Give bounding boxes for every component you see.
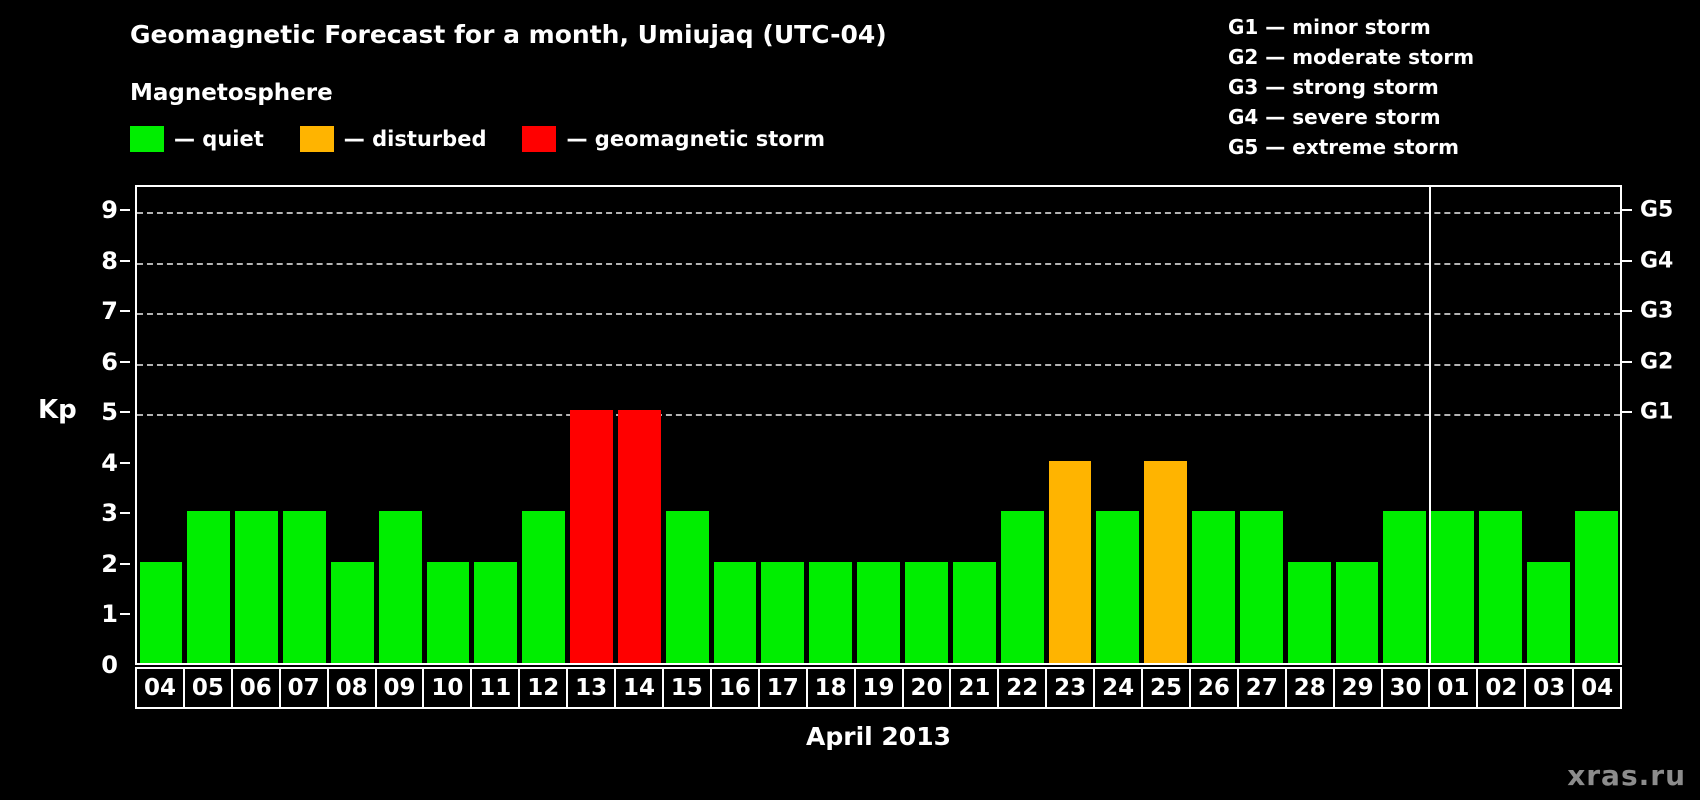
g-axis-tick-label: G1	[1640, 400, 1673, 425]
date-label-cell: 17	[758, 667, 808, 709]
g-scale-legend-line: G3 — strong storm	[1228, 72, 1474, 102]
g-scale-axis: G1G2G3G4G5	[1622, 185, 1692, 665]
date-label-cell: 01	[1428, 667, 1478, 709]
legend-entry-label: — geomagnetic storm	[566, 127, 825, 151]
y-tick-label: 9	[101, 196, 118, 224]
bar	[235, 511, 278, 663]
bar-slot	[233, 187, 281, 663]
g-axis-tick-label: G4	[1640, 248, 1673, 273]
magnetosphere-heading: Magnetosphere	[130, 80, 333, 106]
legend-entry-label: — quiet	[174, 127, 264, 151]
bar-slot	[615, 187, 663, 663]
magnetosphere-legend: — quiet— disturbed— geomagnetic storm	[130, 124, 861, 154]
x-axis-date-labels: 0405060708091011121314151617181920212223…	[135, 667, 1622, 709]
g-axis-tick-mark	[1622, 361, 1632, 363]
bar	[1049, 461, 1092, 663]
y-tick-mark	[120, 462, 130, 464]
bar-slot	[137, 187, 185, 663]
bar	[1144, 461, 1187, 663]
g-axis-tick-label: G3	[1640, 299, 1673, 324]
y-tick-label: 6	[101, 348, 118, 376]
date-label-cell: 23	[1045, 667, 1095, 709]
y-tick-label: 1	[101, 600, 118, 628]
bar-slot	[376, 187, 424, 663]
bar	[714, 562, 757, 663]
date-label-cell: 27	[1237, 667, 1287, 709]
date-label-cell: 22	[997, 667, 1047, 709]
bar	[1192, 511, 1235, 663]
bar-slot	[520, 187, 568, 663]
bar	[618, 410, 661, 663]
g-scale-legend-line: G4 — severe storm	[1228, 102, 1474, 132]
y-tick-mark	[120, 563, 130, 565]
date-label-cell: 24	[1093, 667, 1143, 709]
chart-plot-inner	[137, 187, 1620, 663]
bar	[1527, 562, 1570, 663]
date-label-cell: 14	[614, 667, 664, 709]
date-label-cell: 25	[1141, 667, 1191, 709]
red-square-swatch	[522, 126, 556, 152]
bar-slot	[328, 187, 376, 663]
y-tick-mark	[120, 310, 130, 312]
bar	[857, 562, 900, 663]
bar-slot	[1524, 187, 1572, 663]
y-tick-mark	[120, 411, 130, 413]
bar	[761, 562, 804, 663]
date-label-cell: 18	[806, 667, 856, 709]
bar	[474, 562, 517, 663]
y-tick-label: 0	[101, 651, 118, 679]
bar	[1431, 511, 1474, 663]
bar	[1288, 562, 1331, 663]
bar	[809, 562, 852, 663]
bar	[427, 562, 470, 663]
date-label-cell: 26	[1189, 667, 1239, 709]
bar	[140, 562, 183, 663]
bar	[953, 562, 996, 663]
bar	[1001, 511, 1044, 663]
bar	[331, 562, 374, 663]
bar	[666, 511, 709, 663]
bar	[1240, 511, 1283, 663]
date-label-cell: 10	[422, 667, 472, 709]
bar-slot	[903, 187, 951, 663]
date-label-cell: 11	[470, 667, 520, 709]
bar-slot	[950, 187, 998, 663]
bar-slot	[1142, 187, 1190, 663]
y-tick-label: 5	[101, 398, 118, 426]
g-scale-legend-line: G5 — extreme storm	[1228, 132, 1474, 162]
date-label-cell: 19	[854, 667, 904, 709]
bar-slot	[185, 187, 233, 663]
legend-entry: — disturbed	[300, 124, 487, 154]
bar	[1575, 511, 1618, 663]
date-label-cell: 30	[1381, 667, 1431, 709]
date-label-cell: 05	[183, 667, 233, 709]
date-label-cell: 02	[1476, 667, 1526, 709]
watermark: xras.ru	[1567, 759, 1686, 792]
bar	[283, 511, 326, 663]
y-tick-label: 8	[101, 247, 118, 275]
y-tick-mark	[120, 361, 130, 363]
y-tick-label: 7	[101, 297, 118, 325]
page-title: Geomagnetic Forecast for a month, Umiuja…	[130, 20, 887, 49]
y-tick-label: 3	[101, 499, 118, 527]
bar	[1479, 511, 1522, 663]
bar-slot	[1094, 187, 1142, 663]
y-tick-label: 2	[101, 550, 118, 578]
bar	[187, 511, 230, 663]
date-label-cell: 04	[1572, 667, 1622, 709]
bar-slot	[759, 187, 807, 663]
bar-slot	[663, 187, 711, 663]
g-scale-legend-line: G1 — minor storm	[1228, 12, 1474, 42]
g-axis-tick-label: G2	[1640, 349, 1673, 374]
bar-slot	[1190, 187, 1238, 663]
bar	[1336, 562, 1379, 663]
bar-slot	[1237, 187, 1285, 663]
chart-plot-area	[135, 185, 1622, 665]
orange-square-swatch	[300, 126, 334, 152]
bar-slot	[711, 187, 759, 663]
date-label-cell: 15	[662, 667, 712, 709]
bar-slot	[998, 187, 1046, 663]
bar-slot	[1477, 187, 1525, 663]
x-axis-title: April 2013	[135, 722, 1622, 751]
bar	[1383, 511, 1426, 663]
y-tick-mark	[120, 260, 130, 262]
date-label-cell: 09	[375, 667, 425, 709]
bar	[570, 410, 613, 663]
g-scale-legend: G1 — minor stormG2 — moderate stormG3 — …	[1228, 12, 1474, 162]
date-label-cell: 29	[1333, 667, 1383, 709]
bar-slot	[1429, 187, 1477, 663]
g-axis-tick-label: G5	[1640, 198, 1673, 223]
date-label-cell: 13	[566, 667, 616, 709]
g-axis-tick-mark	[1622, 310, 1632, 312]
y-axis: 0123456789	[70, 185, 130, 665]
date-label-cell: 07	[279, 667, 329, 709]
date-label-cell: 20	[902, 667, 952, 709]
g-axis-tick-mark	[1622, 411, 1632, 413]
date-label-cell: 12	[518, 667, 568, 709]
bar-slot	[1381, 187, 1429, 663]
y-axis-title: Kp	[38, 395, 77, 425]
bar	[379, 511, 422, 663]
legend-entry: — geomagnetic storm	[522, 124, 825, 154]
bar	[1096, 511, 1139, 663]
y-tick-mark	[120, 613, 130, 615]
legend-entry-label: — disturbed	[344, 127, 487, 151]
legend-entry: — quiet	[130, 124, 264, 154]
bar-slot	[424, 187, 472, 663]
date-label-cell: 03	[1524, 667, 1574, 709]
bar-slot	[1046, 187, 1094, 663]
date-label-cell: 08	[327, 667, 377, 709]
g-axis-tick-mark	[1622, 260, 1632, 262]
green-square-swatch	[130, 126, 164, 152]
g-scale-legend-line: G2 — moderate storm	[1228, 42, 1474, 72]
y-tick-mark	[120, 209, 130, 211]
bar-slot	[1285, 187, 1333, 663]
month-divider-line	[1429, 187, 1431, 663]
bar-slot	[855, 187, 903, 663]
bar-slot	[1572, 187, 1620, 663]
bar	[905, 562, 948, 663]
bar	[522, 511, 565, 663]
date-label-cell: 04	[135, 667, 185, 709]
date-label-cell: 16	[710, 667, 760, 709]
bar-slot	[568, 187, 616, 663]
bar-slot	[807, 187, 855, 663]
bar-series	[137, 187, 1620, 663]
g-axis-tick-mark	[1622, 209, 1632, 211]
date-label-cell: 06	[231, 667, 281, 709]
date-label-cell: 21	[949, 667, 999, 709]
bar-slot	[472, 187, 520, 663]
y-tick-mark	[120, 512, 130, 514]
date-label-cell: 28	[1285, 667, 1335, 709]
bar-slot	[281, 187, 329, 663]
bar-slot	[1333, 187, 1381, 663]
y-tick-label: 4	[101, 449, 118, 477]
